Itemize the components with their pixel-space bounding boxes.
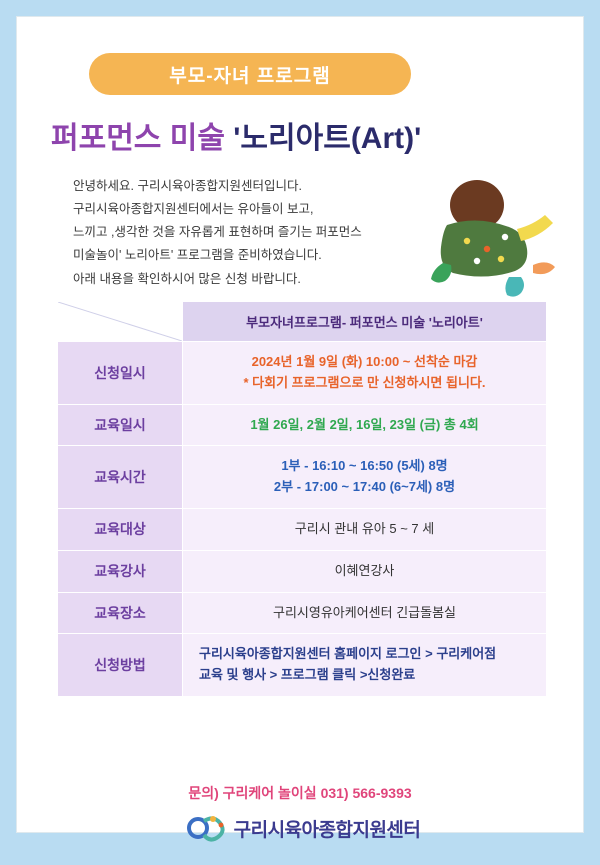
- row-label-apply-date: 신청일시: [58, 342, 183, 405]
- page-title-part2: '노리아트(Art)': [233, 122, 421, 155]
- row-value-line1: 1부 - 16:10 ~ 16:50 (5세) 8명: [189, 456, 540, 477]
- program-badge: 부모-자녀 프로그램: [89, 53, 411, 95]
- table-row: 신청방법 구리시육아종합지원센터 홈페이지 로그인 > 구리케어점 교육 및 행…: [58, 634, 547, 697]
- page-title-part1: 퍼포먼스 미술: [51, 122, 233, 155]
- row-value-class-time: 1부 - 16:10 ~ 16:50 (5세) 8명 2부 - 17:00 ~ …: [183, 446, 547, 509]
- table-row: 교육대상 구리시 관내 유아 5 ~ 7 세: [58, 508, 547, 550]
- row-label-how-to-apply: 신청방법: [58, 634, 183, 697]
- row-value-instructor: 이혜연강사: [183, 550, 547, 592]
- page-title: 퍼포먼스 미술 '노리아트(Art)': [51, 113, 571, 157]
- row-label-instructor: 교육강사: [58, 550, 183, 592]
- table-corner-cell: [58, 302, 183, 342]
- row-value-line1: 이혜연강사: [189, 561, 540, 582]
- row-value-line1: 구리시영유아케어센터 긴급돌봄실: [189, 603, 540, 624]
- table-row: 교육일시 1월 26일, 2월 2일, 16일, 23일 (금) 총 4회: [58, 404, 547, 446]
- program-info-table: 부모자녀프로그램- 퍼포먼스 미술 '노리아트' 신청일시 2024년 1월 9…: [57, 301, 547, 697]
- program-badge-label: 부모-자녀 프로그램: [169, 61, 330, 88]
- diagonal-line-icon: [58, 302, 182, 341]
- row-value-line2: 2부 - 17:00 ~ 17:40 (6~7세) 8명: [189, 477, 540, 498]
- org-logo-icon: [180, 813, 226, 843]
- contact-info: 문의) 구리케어 놀이실 031) 566-9393: [17, 783, 583, 803]
- row-value-target: 구리시 관내 유아 5 ~ 7 세: [183, 508, 547, 550]
- row-value-location: 구리시영유아케어센터 긴급돌봄실: [183, 592, 547, 634]
- row-value-class-date: 1월 26일, 2월 2일, 16일, 23일 (금) 총 4회: [183, 404, 547, 446]
- row-value-line2: * 다회기 프로그램으로 만 신청하시면 됩니다.: [189, 373, 540, 394]
- org-name: 구리시육아종합지원센터: [234, 815, 421, 842]
- row-value-apply-date: 2024년 1월 9일 (화) 10:00 ~ 선착순 마감 * 다회기 프로그…: [183, 342, 547, 405]
- row-value-line1: 2024년 1월 9일 (화) 10:00 ~ 선착순 마감: [189, 352, 540, 373]
- row-value-line1: 구리시 관내 유아 5 ~ 7 세: [189, 519, 540, 540]
- table-row: 신청일시 2024년 1월 9일 (화) 10:00 ~ 선착순 마감 * 다회…: [58, 342, 547, 405]
- table-row: 교육시간 1부 - 16:10 ~ 16:50 (5세) 8명 2부 - 17:…: [58, 446, 547, 509]
- row-label-target: 교육대상: [58, 508, 183, 550]
- table-row: 교육장소 구리시영유아케어센터 긴급돌봄실: [58, 592, 547, 634]
- row-label-class-time: 교육시간: [58, 446, 183, 509]
- row-label-location: 교육장소: [58, 592, 183, 634]
- row-value-how-to-apply: 구리시육아종합지원센터 홈페이지 로그인 > 구리케어점 교육 및 행사 > 프…: [183, 634, 547, 697]
- poster: 부모-자녀 프로그램 퍼포먼스 미술 '노리아트(Art)' 안녕하세요. 구리…: [16, 16, 584, 833]
- table-header-row: 부모자녀프로그램- 퍼포먼스 미술 '노리아트': [58, 302, 547, 342]
- child-painting-illustration: [405, 167, 565, 307]
- row-label-class-date: 교육일시: [58, 404, 183, 446]
- row-value-line2: 교육 및 행사 > 프로그램 클릭 >신청완료: [189, 665, 540, 686]
- organization-logo-row: 구리시육아종합지원센터: [17, 813, 583, 843]
- row-value-line1: 1월 26일, 2월 2일, 16일, 23일 (금) 총 4회: [189, 415, 540, 436]
- row-value-line1: 구리시육아종합지원센터 홈페이지 로그인 > 구리케어점: [189, 644, 540, 665]
- table-header-title: 부모자녀프로그램- 퍼포먼스 미술 '노리아트': [183, 302, 547, 342]
- table-row: 교육강사 이혜연강사: [58, 550, 547, 592]
